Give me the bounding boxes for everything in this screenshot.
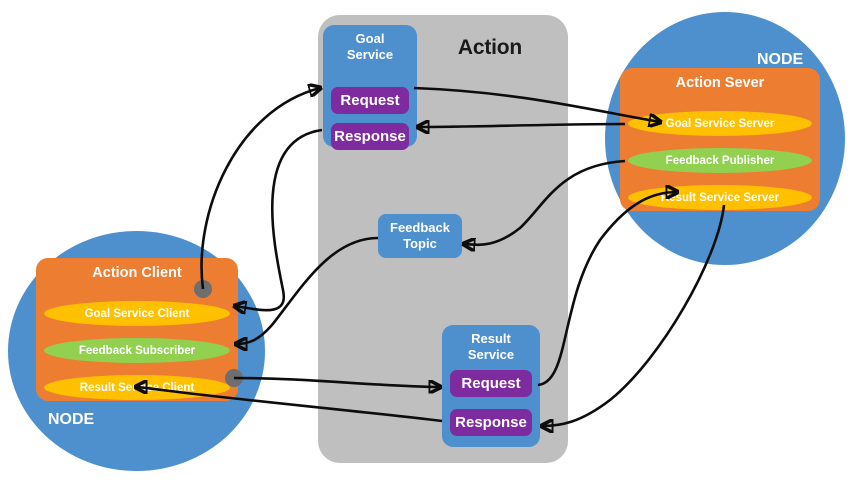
- result-service-response[interactable]: Response: [450, 409, 532, 436]
- goal-service-response[interactable]: Response: [331, 123, 409, 150]
- result-service-request[interactable]: Request: [450, 370, 532, 397]
- result-service-client-pill[interactable]: Result Service Client: [44, 375, 230, 400]
- result-service-title: Result Service: [442, 331, 540, 363]
- action-client-box: Action Client Goal Service Client Feedba…: [36, 258, 238, 401]
- result-service-box: Result Service Request Response: [442, 325, 540, 447]
- result-service-title-line2: Service: [468, 347, 514, 362]
- diagram-canvas: Action NODE NODE Action Sever Goal Servi…: [0, 0, 854, 480]
- goal-service-box: Goal Service Request Response: [323, 25, 417, 147]
- goal-service-client-pill[interactable]: Goal Service Client: [44, 301, 230, 326]
- action-server-title: Action Sever: [620, 75, 820, 91]
- feedback-topic-line1: Feedback: [390, 220, 450, 235]
- action-server-box: Action Sever Goal Service Server Feedbac…: [620, 68, 820, 211]
- goal-service-server-pill[interactable]: Goal Service Server: [628, 111, 812, 136]
- arrow-goal-response-to-client: [235, 130, 322, 310]
- feedback-topic-line2: Topic: [403, 236, 437, 251]
- goal-service-title-line2: Service: [347, 47, 393, 62]
- action-client-title: Action Client: [36, 265, 238, 281]
- result-service-title-line1: Result: [471, 331, 511, 346]
- goal-service-request[interactable]: Request: [331, 87, 409, 114]
- feedback-publisher-pill[interactable]: Feedback Publisher: [628, 148, 812, 173]
- feedback-subscriber-pill[interactable]: Feedback Subscriber: [44, 338, 230, 363]
- node-label-server: NODE: [757, 51, 803, 69]
- goal-service-title-line1: Goal: [356, 31, 385, 46]
- node-label-client: NODE: [48, 411, 94, 429]
- result-service-server-pill[interactable]: Result Service Server: [628, 185, 812, 210]
- action-container-title: Action: [425, 36, 555, 60]
- goal-service-title: Goal Service: [323, 31, 417, 63]
- feedback-topic-label: Feedback Topic: [390, 220, 450, 252]
- feedback-topic-box[interactable]: Feedback Topic: [378, 214, 462, 258]
